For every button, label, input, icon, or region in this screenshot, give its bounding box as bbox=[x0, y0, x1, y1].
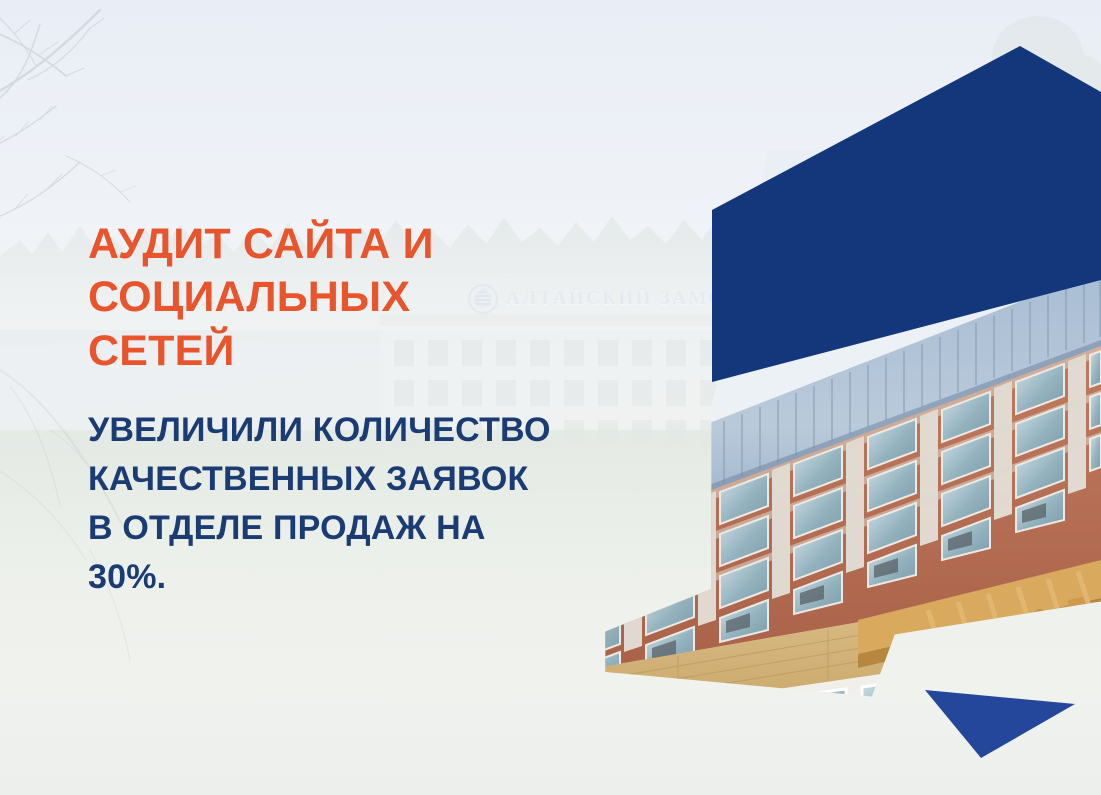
page-subtitle: УВЕЛИЧИЛИ КОЛИЧЕСТВО КАЧЕСТВЕННЫХ ЗАЯВОК… bbox=[88, 406, 558, 602]
text-block: АУДИТ САЙТА И СОЦИАЛЬНЫХ СЕТЕЙ УВЕЛИЧИЛИ… bbox=[88, 218, 558, 602]
navy-roof-polygon bbox=[690, 30, 1101, 400]
navy-corner-triangle bbox=[925, 690, 1075, 758]
slide-canvas: АЛТАЙСКИЙ ЗАМОК bbox=[0, 0, 1101, 795]
page-title: АУДИТ САЙТА И СОЦИАЛЬНЫХ СЕТЕЙ bbox=[88, 218, 558, 378]
